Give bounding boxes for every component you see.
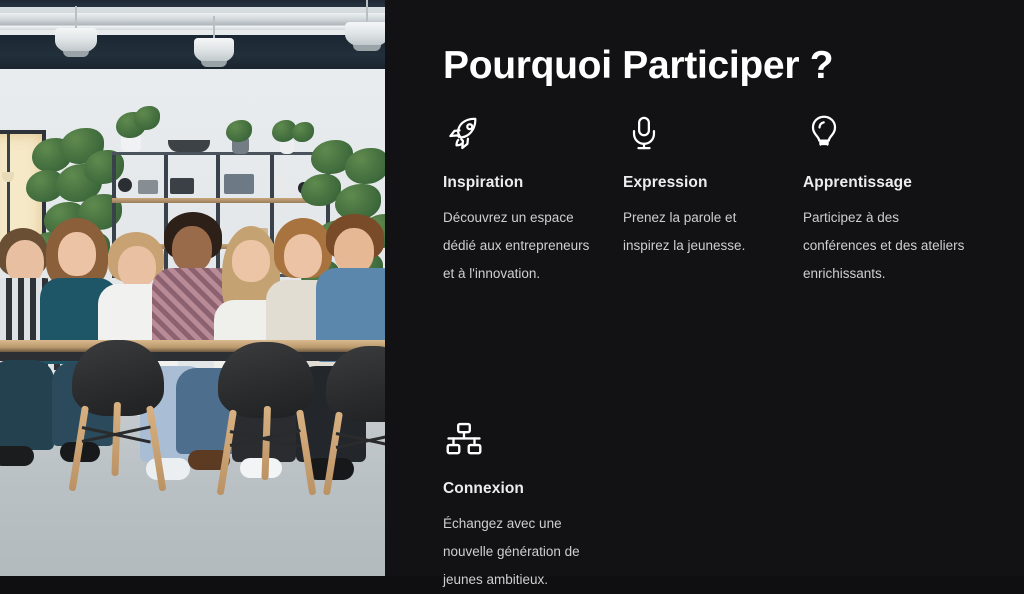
pendant-lamp: [345, 0, 385, 50]
lamp-shade: [194, 38, 234, 64]
feature-description: Découvrez un espace dédié aux entreprene…: [443, 204, 603, 288]
feature-expression: Expression Prenez la parole et inspirez …: [623, 112, 803, 288]
shelf-object: [118, 178, 132, 192]
rocket-icon: [443, 112, 623, 158]
slide-root: Pourquoi Participer ? Inspiration: [0, 0, 1024, 576]
chair-leg: [261, 406, 271, 480]
shelf-plant-pot: [280, 140, 294, 154]
shelf-frame: [224, 174, 254, 194]
shelf-frame: [138, 180, 158, 194]
feature-row-bottom: Connexion Échangez avec une nouvelle gén…: [443, 288, 1008, 594]
lamp-cord: [366, 0, 368, 24]
feature-title: Apprentissage: [803, 174, 983, 192]
pendant-lamp: [55, 6, 97, 56]
chair-leg: [323, 411, 343, 495]
office-chair: [218, 342, 314, 492]
lamp-cord: [213, 16, 215, 40]
office-chair: [326, 346, 385, 496]
feature-connexion: Connexion Échangez avec une nouvelle gén…: [443, 418, 623, 594]
office-chair: [72, 340, 164, 490]
meeting-photo: [0, 0, 385, 576]
feature-grid: Inspiration Découvrez un espace dédié au…: [443, 112, 1008, 594]
lamp-cord: [75, 6, 77, 30]
shelf-bowls: [168, 140, 210, 152]
page-title: Pourquoi Participer ?: [443, 44, 833, 88]
lamp-shade: [345, 22, 385, 48]
chair-leg: [69, 405, 89, 491]
feature-title: Connexion: [443, 480, 623, 498]
feature-title: Inspiration: [443, 174, 623, 192]
shelf-object: [274, 176, 290, 194]
chair-leg: [217, 409, 237, 495]
content-panel: Pourquoi Participer ? Inspiration: [385, 0, 1024, 576]
chair-leg: [111, 402, 121, 476]
pendant-lamp: [194, 16, 234, 66]
feature-description: Participez à des conférences et des atel…: [803, 204, 969, 288]
feature-row-top: Inspiration Découvrez un espace dédié au…: [443, 112, 1008, 288]
feature-apprentissage: Apprentissage Participez à des conférenc…: [803, 112, 983, 288]
sitemap-icon: [443, 418, 623, 464]
lightbulb-icon: [803, 112, 983, 158]
photo-scene: [0, 0, 385, 576]
chair-back: [326, 346, 385, 422]
microphone-icon: [623, 112, 803, 158]
feature-inspiration: Inspiration Découvrez un espace dédié au…: [443, 112, 623, 288]
feature-description: Prenez la parole et inspirez la jeunesse…: [623, 204, 783, 260]
chair-leg: [146, 405, 166, 491]
feature-description: Échangez avec une nouvelle génération de…: [443, 510, 603, 594]
shelf-frame: [170, 178, 194, 194]
lamp-shade: [55, 28, 97, 54]
chair-leg: [296, 409, 316, 495]
feature-title: Expression: [623, 174, 803, 192]
person-lower-body: [0, 360, 60, 490]
